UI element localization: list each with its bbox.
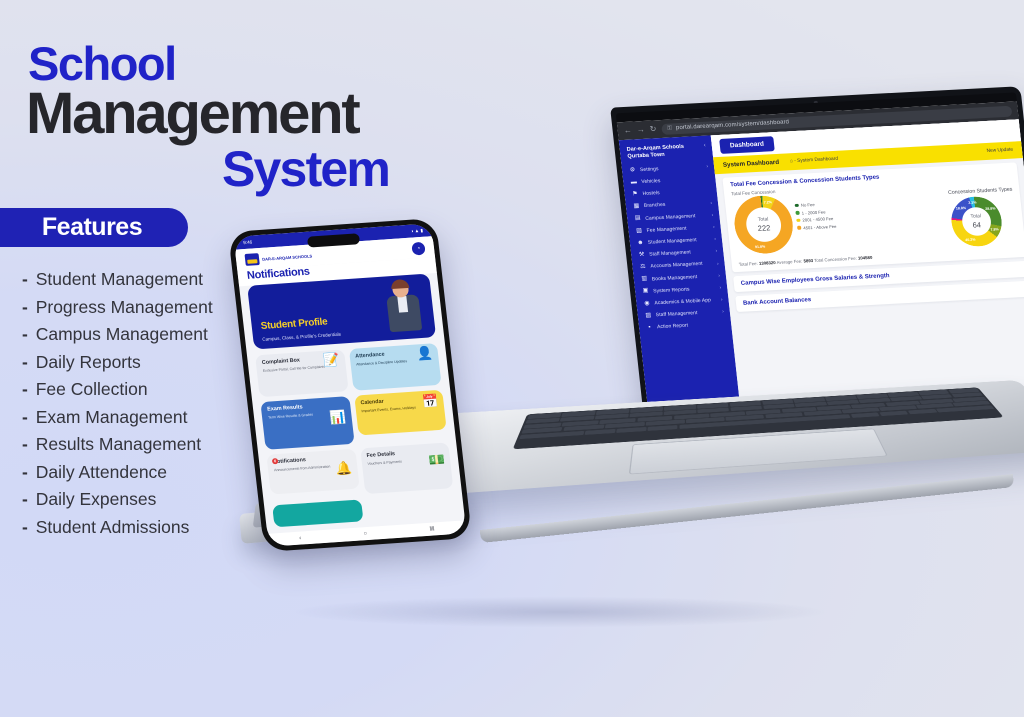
- features-badge: Features: [0, 208, 188, 247]
- chevron-right-icon: ›: [718, 273, 720, 279]
- feature-label: Campus Management: [36, 324, 208, 344]
- tile-complaint-box[interactable]: 📝Complaint BoxExclusive Portal, Call Me …: [255, 349, 348, 397]
- feature-label: Results Management: [36, 434, 201, 454]
- new-update-label[interactable]: New Update: [986, 148, 1013, 154]
- laptop-base: [462, 396, 1024, 526]
- tile-icon: 💵: [428, 453, 446, 467]
- page-title: System Dashboard: [723, 159, 780, 169]
- back-icon[interactable]: ←: [623, 127, 632, 135]
- phone-screen: 9:46 ◑ ▲ ▮ DAR-E-ARQAM SCHOOLS ◔ Notific…: [233, 223, 466, 546]
- keyboard-key[interactable]: [648, 425, 678, 431]
- donut-1-center-value: 222: [757, 223, 770, 233]
- chevron-right-icon: ›: [713, 224, 715, 230]
- student-illustration: [384, 280, 424, 332]
- legend-item[interactable]: 2001 - 4500 Fee: [796, 216, 836, 223]
- forward-icon[interactable]: →: [636, 126, 645, 134]
- laptop-screen: ← → ↻ ⚿ portal.darearqam.com/system/dash…: [616, 92, 1024, 430]
- tile-icon: 🔔: [335, 461, 353, 475]
- school-logo: DAR-E-ARQAM SCHOOLS: [244, 249, 312, 265]
- phone-tile-grid: 📝Complaint BoxExclusive Portal, Call Me …: [246, 337, 464, 528]
- feature-label: Daily Attendence: [36, 462, 167, 482]
- feature-bullet: -: [22, 324, 33, 344]
- feature-bullet: -: [22, 407, 33, 427]
- sidebar-item-icon: ▪: [646, 324, 654, 331]
- legend-swatch: [797, 226, 801, 230]
- average-fee-label: Average Fee:: [776, 259, 802, 265]
- legend-swatch: [795, 211, 799, 215]
- address-bar-url: portal.darearqam.com/system/dashboard: [676, 119, 790, 131]
- sidebar-item-label: System Reports: [653, 285, 716, 295]
- chevron-right-icon: ›: [722, 309, 724, 315]
- sidebar-item-icon: ⚖: [639, 264, 647, 271]
- feature-label: Fee Collection: [36, 379, 148, 399]
- headline-line-3: System: [222, 144, 389, 194]
- donut-1-center-label: Total: [758, 216, 769, 223]
- student-profile-title: Student Profile: [260, 316, 328, 331]
- tile-calendar[interactable]: 📅CalendarImportant Events, Exams, Holida…: [354, 390, 447, 436]
- feature-bullet: -: [22, 462, 33, 482]
- student-profile-subtitle: Campus, Class, & Profile's Credentials: [262, 332, 341, 342]
- donut-2-center-value: 64: [972, 220, 981, 229]
- sidebar-collapse-icon[interactable]: ‹: [703, 143, 706, 149]
- sidebar-item-icon: ▥: [641, 276, 649, 283]
- headline-line-2: Management: [26, 85, 359, 143]
- avatar[interactable]: ◔: [411, 242, 425, 256]
- tile-promo-strip[interactable]: [272, 499, 363, 527]
- sidebar-item-label: Action Report: [657, 321, 722, 331]
- sidebar-item-label: Campus Management: [645, 212, 708, 222]
- feature-label: Student Management: [36, 269, 203, 289]
- chevron-right-icon: ›: [721, 297, 723, 303]
- concession-fee-value: 104580: [858, 255, 873, 261]
- chevron-right-icon: ›: [710, 200, 712, 206]
- lock-icon: ⚿: [667, 125, 672, 132]
- keyboard-key[interactable]: [616, 427, 646, 433]
- feature-bullet: -: [22, 379, 33, 399]
- sidebar-item-icon: ⚒: [638, 252, 646, 259]
- legend-item[interactable]: 1 - 2000 Fee: [795, 209, 835, 216]
- status-time: 9:46: [243, 239, 253, 245]
- chevron-right-icon: ›: [714, 236, 716, 242]
- student-profile-banner[interactable]: Student Profile Campus, Class, & Profile…: [247, 273, 436, 349]
- sidebar-item-label: Books Management: [652, 273, 715, 283]
- ribbon-spacer: [849, 152, 976, 159]
- concession-card: Total Fee Concession & Concession Studen…: [722, 162, 1024, 272]
- tile-notifications[interactable]: 6🔔NotificationsAnnouncements from Admini…: [266, 449, 359, 495]
- tile-icon: 📅: [421, 394, 439, 408]
- keyboard-key[interactable]: [585, 429, 616, 435]
- tile-icon: 👤: [416, 346, 434, 360]
- legend-label: 1 - 2000 Fee: [801, 209, 825, 215]
- legend-label: 2001 - 4500 Fee: [802, 216, 833, 223]
- sidebar-item-icon: ▣: [642, 288, 650, 295]
- legend-swatch: [795, 204, 799, 208]
- legend-label: No Fee: [801, 202, 815, 208]
- browser-window: ← → ↻ ⚿ portal.darearqam.com/system/dash…: [617, 101, 1024, 430]
- average-fee-value: 5893: [803, 258, 813, 263]
- sidebar-item-label: Vehicles: [641, 176, 706, 186]
- sidebar-item-label: Accounts Management: [650, 261, 713, 271]
- sidebar-item-icon: ⚙: [629, 167, 637, 174]
- donut-slice-label: 7.8%: [987, 227, 1001, 232]
- feature-bullet: -: [22, 517, 33, 537]
- poster-canvas: School Management System Features - Stud…: [0, 0, 1024, 717]
- sidebar-item-icon: ▨: [644, 312, 652, 319]
- sidebar-item-icon: ☻: [637, 240, 645, 247]
- sidebar-item-label: Branches: [644, 200, 707, 210]
- feature-label: Student Admissions: [36, 517, 190, 537]
- concession-fee-label: Total Concession Fee:: [814, 256, 857, 263]
- sidebar-item-label: Settings: [640, 164, 703, 174]
- chevron-right-icon: ›: [717, 261, 719, 267]
- feature-bullet: -: [22, 269, 33, 289]
- sidebar-item-label: Staff Management: [656, 309, 719, 319]
- chart-2-title: Concession Students Types: [948, 187, 1013, 196]
- legend-swatch: [796, 219, 800, 223]
- chart-1-legend: No Fee1 - 2000 Fee2001 - 4500 Fee4501 - …: [794, 192, 837, 233]
- donut-slice-label: 40.2%: [963, 237, 977, 242]
- nav-home-icon[interactable]: ○: [363, 531, 367, 537]
- legend-label: 4501 - Above Fee: [803, 224, 837, 231]
- floor-shadow: [180, 590, 940, 634]
- keyboard-key[interactable]: [879, 411, 908, 417]
- sidebar-item-icon: ◉: [643, 300, 651, 307]
- dashboard-button[interactable]: Dashboard: [719, 136, 775, 154]
- features-badge-label: Features: [22, 213, 142, 242]
- school-logo-mark: [244, 253, 259, 266]
- concession-students-types-donut: Total 64 28.8%7.8%40.2%18.8%3.1%: [949, 195, 1004, 247]
- feature-bullet: -: [22, 489, 33, 509]
- feature-bullet: -: [22, 352, 33, 372]
- feature-label: Daily Expenses: [36, 489, 157, 509]
- nav-recents-icon[interactable]: ‖‖: [429, 526, 435, 532]
- donut-slice-label: 3.1%: [965, 200, 979, 205]
- donut-slice-label: 28.8%: [983, 206, 997, 211]
- headline-line-1: School: [28, 40, 176, 87]
- feature-bullet: -: [22, 297, 33, 317]
- school-logo-text: DAR-E-ARQAM SCHOOLS: [262, 253, 313, 261]
- sidebar-item-label: Student Management: [648, 236, 711, 246]
- sidebar-item-label: Academics & Mobile App: [654, 297, 717, 307]
- sidebar-item-label: Fee Management: [646, 224, 709, 234]
- reload-icon[interactable]: ↻: [649, 125, 657, 133]
- nav-back-icon[interactable]: ‹: [299, 535, 302, 541]
- sidebar-item-icon: ▦: [633, 203, 641, 210]
- feature-label: Exam Management: [36, 407, 188, 427]
- legend-item[interactable]: 4501 - Above Fee: [797, 224, 837, 231]
- tile-fee-details[interactable]: 💵Fee DetailsVouchers & Payments: [360, 442, 454, 494]
- app-content: Dashboard System Dashboard ⌂ - System Da…: [711, 119, 1024, 425]
- sidebar-brand-label: Dar-e-Arqam Schools Qurtaba Town: [626, 143, 705, 161]
- status-icons: ◑ ▲ ▮: [410, 227, 423, 234]
- chevron-right-icon: ›: [706, 164, 708, 170]
- tile-attendance[interactable]: 👤AttendanceAttendance & Discipline Updat…: [348, 343, 441, 391]
- total-fee-value: 1308320: [759, 260, 776, 266]
- donut-slice-label: 18.8%: [954, 206, 968, 211]
- total-fee-label: Total Fee:: [739, 261, 758, 267]
- feature-label: Daily Reports: [36, 352, 141, 372]
- keyboard-key[interactable]: [908, 409, 937, 414]
- keyboard-key[interactable]: [850, 412, 879, 418]
- donut-slice-label: 7.2%: [761, 200, 775, 205]
- chevron-right-icon: ›: [711, 212, 713, 218]
- sidebar-item-label: Hostels: [642, 188, 707, 198]
- sidebar-item-icon: ▬: [630, 179, 638, 186]
- charts-row: Total 222 7.2%91.8% No Fee1 - 2000 Fee20…: [732, 183, 1019, 259]
- tile-icon: 📝: [323, 353, 341, 367]
- donut-2-center-label: Total: [970, 213, 981, 220]
- phone-mockup: 9:46 ◑ ▲ ▮ DAR-E-ARQAM SCHOOLS ◔ Notific…: [224, 212, 524, 602]
- sidebar-item-icon: ⚑: [631, 191, 639, 198]
- donut-slice-label: 91.8%: [753, 245, 767, 250]
- chevron-right-icon: ›: [719, 285, 721, 291]
- phone-device: 9:46 ◑ ▲ ▮ DAR-E-ARQAM SCHOOLS ◔ Notific…: [228, 218, 472, 552]
- feature-label: Progress Management: [36, 297, 213, 317]
- sidebar-item-icon: ▤: [634, 215, 642, 222]
- sidebar-item-label: Staff Management: [649, 249, 712, 259]
- tile-icon: 📊: [329, 410, 347, 424]
- legend-item[interactable]: No Fee: [795, 201, 835, 208]
- sidebar-item-icon: ▧: [635, 228, 643, 235]
- tile-exam-results[interactable]: 📊Exam ResultsTerm Wise Results & Grades: [260, 396, 354, 450]
- total-fee-concession-donut: Total 222 7.2%91.8%: [732, 194, 796, 255]
- breadcrumb[interactable]: ⌂ - System Dashboard: [790, 157, 839, 164]
- feature-bullet: -: [22, 434, 33, 454]
- chevron-right-icon: ›: [715, 248, 717, 254]
